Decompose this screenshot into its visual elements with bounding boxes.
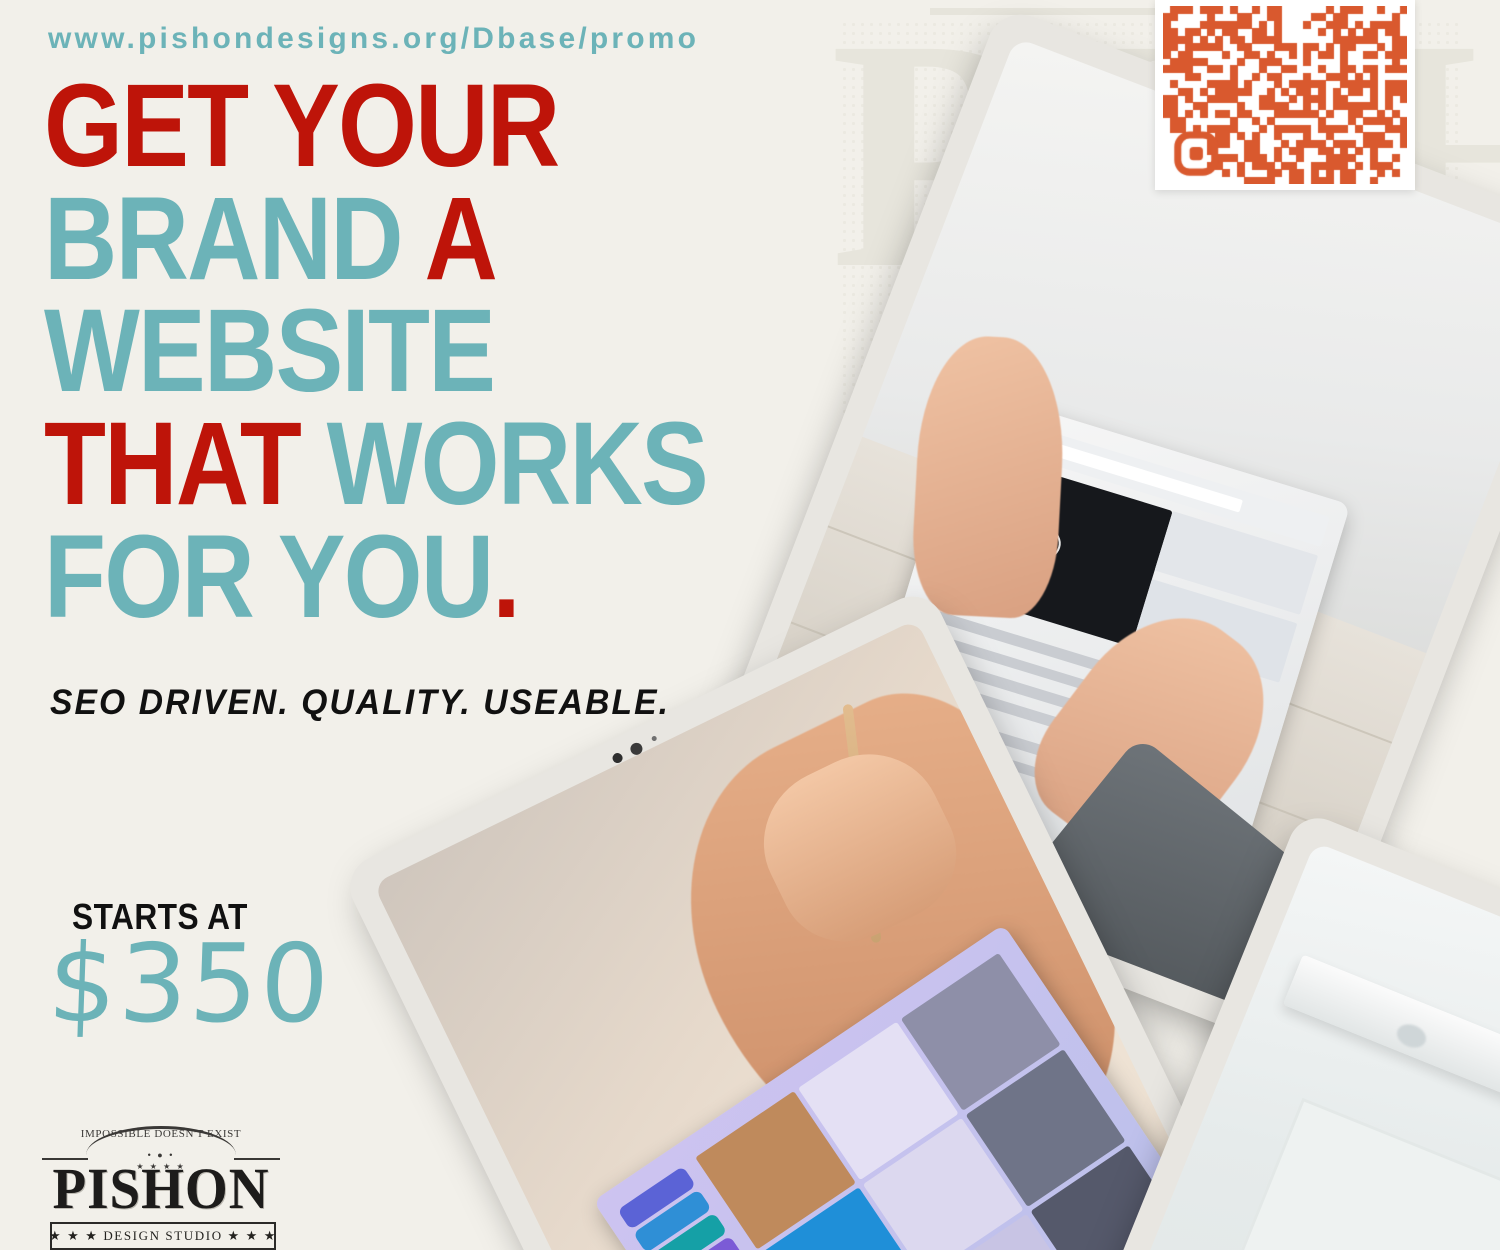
headline-line-1: GET YOUR: [44, 72, 818, 182]
headline-for-you: FOR YOU: [44, 511, 492, 643]
qr-code-canvas: [1163, 6, 1407, 184]
headline-line-3: WEBSITE: [44, 297, 818, 407]
website-url[interactable]: www.pishondesigns.org/Dbase/promo: [48, 22, 699, 56]
headline-line-2: BRAND A: [44, 185, 818, 295]
qr-code[interactable]: [1155, 0, 1415, 190]
promo-poster: PISHON DESIGN Since 20: [0, 0, 1500, 1250]
headline-line-5: FOR YOU.: [44, 523, 818, 633]
pishon-logo: IMPOSSIBLE DOESN'T EXIST • ● • ★ ★ ★ ★ P…: [36, 1126, 286, 1250]
headline-period: .: [492, 511, 518, 643]
headline-line-4: THAT WORKS: [44, 410, 818, 520]
price-amount: $350: [46, 922, 333, 1047]
headline: GET YOUR BRAND A WEBSITE THAT WORKS FOR …: [44, 72, 944, 636]
tagline: SEO DRIVEN. QUALITY. USEABLE.: [50, 683, 670, 723]
logo-wordmark: PISHON: [53, 1160, 270, 1218]
logo-since: Since 2011: [124, 1246, 198, 1250]
logo-tagline: IMPOSSIBLE DOESN'T EXIST: [81, 1128, 241, 1140]
logo-banner-text: ★ ★ ★ DESIGN STUDIO ★ ★ ★: [49, 1228, 277, 1244]
